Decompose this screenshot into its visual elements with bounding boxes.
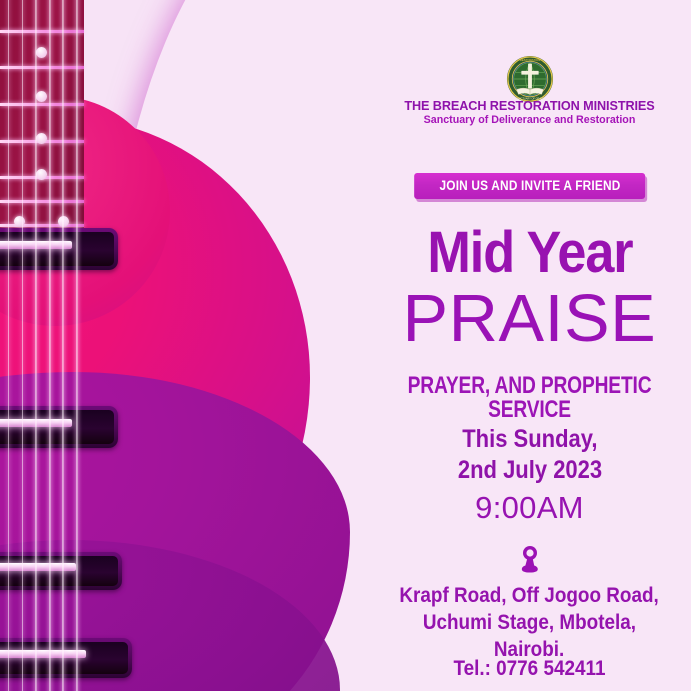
event-time: 9:00AM (368, 492, 691, 523)
headline-line-1-text: Mid Year (427, 224, 632, 282)
organization-name: THE BREACH RESTORATION MINISTRIES (374, 99, 684, 114)
guitar-string (62, 0, 64, 691)
event-date: 2nd July 2023 (457, 455, 601, 486)
phone-number-text: Tel.: 0776 542411 (453, 656, 605, 681)
guitar-pickup (0, 406, 118, 448)
ministry-logo-icon: RESTORATION SANCTUARY OF GRACE (506, 55, 554, 103)
headline-line-1: Mid Year (368, 224, 691, 282)
guitar-pickup (0, 638, 132, 678)
guitar-string (76, 0, 79, 691)
event-flyer: RESTORATION SANCTUARY OF GRACE THE BREAC… (0, 0, 691, 691)
guitar-string (22, 0, 24, 691)
guitar-string (8, 0, 9, 691)
pickup-housing (0, 232, 114, 266)
fret-inlay-dot (36, 133, 47, 144)
headline-line-2-text: PRAISE (403, 285, 657, 352)
pickup-pole-bar (0, 650, 86, 658)
fret-inlay-dot (36, 47, 47, 58)
pickup-pole-bar (0, 563, 76, 571)
headline-line-3: PRAYER, AND PROPHETIC SERVICE (368, 374, 691, 422)
pickup-housing (0, 410, 114, 444)
flyer-content: RESTORATION SANCTUARY OF GRACE THE BREAC… (368, 0, 691, 691)
headline-line-2: PRAISE (368, 285, 691, 352)
guitar-string (35, 0, 37, 691)
guitar-string (49, 0, 51, 691)
guitar-fret (0, 224, 84, 227)
invite-badge: JOIN US AND INVITE A FRIEND (414, 173, 646, 199)
guitar-fret (0, 103, 84, 106)
fret-inlay-dot (36, 91, 47, 102)
address-block: Krapf Road, Off Jogoo Road, Uchumi Stage… (368, 583, 691, 664)
fret-inlay-dot (14, 216, 25, 227)
guitar-fret (0, 200, 84, 203)
address-line-2: Uchumi Stage, Mbotela, (423, 610, 636, 637)
event-date-block: This Sunday, 2nd July 2023 (368, 424, 691, 485)
event-day: This Sunday, (462, 424, 597, 455)
guitar-pickup (0, 228, 118, 270)
invite-badge-label: JOIN US AND INVITE A FRIEND (439, 178, 620, 193)
guitar-fret (0, 30, 84, 33)
location-pin-icon (520, 545, 540, 575)
fret-inlay-dot (36, 169, 47, 180)
address-line-1: Krapf Road, Off Jogoo Road, (400, 583, 659, 610)
organization-tagline: Sanctuary of Deliverance and Restoration (373, 114, 686, 127)
guitar-pickup (0, 552, 122, 590)
headline-line-3-text: PRAYER, AND PROPHETIC SERVICE (400, 374, 658, 422)
phone-number: Tel.: 0776 542411 (368, 656, 691, 681)
svg-text:RESTORATION: RESTORATION (519, 58, 540, 62)
guitar-fretboard-top (0, 0, 84, 242)
pickup-housing (0, 556, 118, 586)
guitar-fret (0, 66, 84, 69)
